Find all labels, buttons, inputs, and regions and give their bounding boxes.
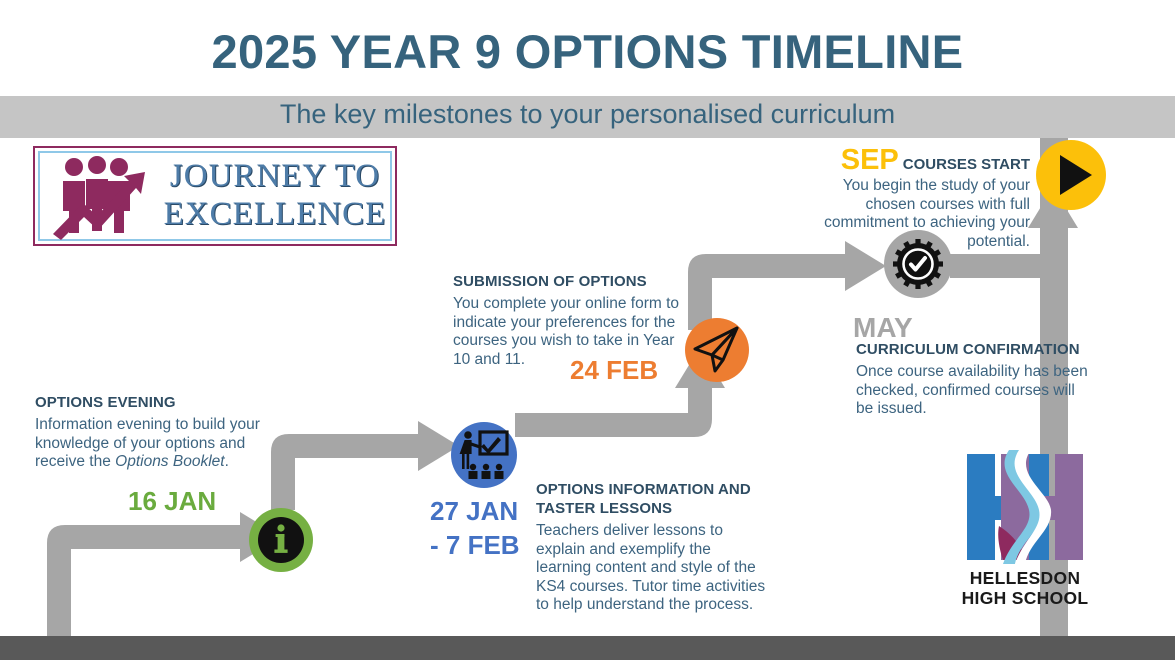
information-icon	[249, 508, 313, 572]
milestone-heading-courses-start: COURSES START	[899, 156, 1030, 173]
school-name-line2: HIGH SCHOOL	[955, 588, 1095, 608]
milestone-heading-taster-lessons: OPTIONS INFORMATION AND TASTER LESSONS	[536, 480, 768, 518]
journey-logo-text: JOURNEY TO EXCELLENCE	[159, 157, 391, 233]
hsh-monogram-icon	[963, 448, 1087, 566]
school-name-line1: HELLESDON	[955, 568, 1095, 588]
milestone-heading-options-evening: OPTIONS EVENING	[35, 393, 285, 412]
milestone-heading-curriculum: CURRICULUM CONFIRMATION	[856, 340, 1088, 359]
milestone-block-options-evening: OPTIONS EVENING Information evening to b…	[35, 393, 285, 472]
milestone-body-options-evening: Information evening to build your knowle…	[35, 416, 285, 472]
milestone-date-taster-lessons: 27 JAN - 7 FEB	[430, 494, 520, 562]
milestone-node-submission[interactable]	[685, 318, 749, 382]
milestone-date-courses-start: SEP	[841, 144, 899, 176]
milestone-date-line1: 27 JAN	[430, 494, 520, 528]
footer-band	[0, 636, 1175, 660]
milestone-date-options-evening: 16 JAN	[128, 486, 216, 517]
timeline-infographic: 2025 YEAR 9 OPTIONS TIMELINE The key mil…	[0, 0, 1175, 660]
milestone-node-courses-start[interactable]	[1036, 140, 1106, 210]
milestone-block-taster-lessons: OPTIONS INFORMATION AND TASTER LESSONS T…	[536, 480, 768, 615]
journey-logo-line1: JOURNEY TO	[159, 157, 391, 195]
milestone-body-curriculum: Once course availability has been checke…	[856, 363, 1088, 419]
milestone-block-curriculum: CURRICULUM CONFIRMATION Once course avai…	[856, 340, 1088, 419]
journey-logo-line2: EXCELLENCE	[159, 195, 391, 233]
people-growth-arrow-icon	[49, 156, 153, 240]
paper-plane-icon	[685, 318, 749, 382]
page-title: 2025 YEAR 9 OPTIONS TIMELINE	[0, 24, 1175, 79]
milestone-date-submission: 24 FEB	[570, 355, 658, 386]
milestone-heading-submission: SUBMISSION OF OPTIONS	[453, 272, 681, 291]
milestone-node-options-evening[interactable]	[249, 508, 313, 572]
milestone-body-courses-start: You begin the study of your chosen cours…	[790, 177, 1030, 251]
journey-to-excellence-logo: JOURNEY TO EXCELLENCE	[33, 146, 397, 246]
milestone-node-taster-lessons[interactable]	[451, 422, 517, 488]
milestone-block-courses-start: You begin the study of your chosen cours…	[790, 173, 1030, 251]
school-name: HELLESDON HIGH SCHOOL	[955, 568, 1095, 608]
play-icon	[1036, 140, 1106, 210]
milestone-date-line2: - 7 FEB	[430, 528, 520, 562]
milestone-body-taster-lessons: Teachers deliver lessons to explain and …	[536, 522, 768, 615]
hellesdon-high-school-logo: HELLESDON HIGH SCHOOL	[955, 448, 1095, 608]
teacher-presentation-icon	[451, 422, 517, 488]
page-subtitle: The key milestones to your personalised …	[0, 99, 1175, 130]
